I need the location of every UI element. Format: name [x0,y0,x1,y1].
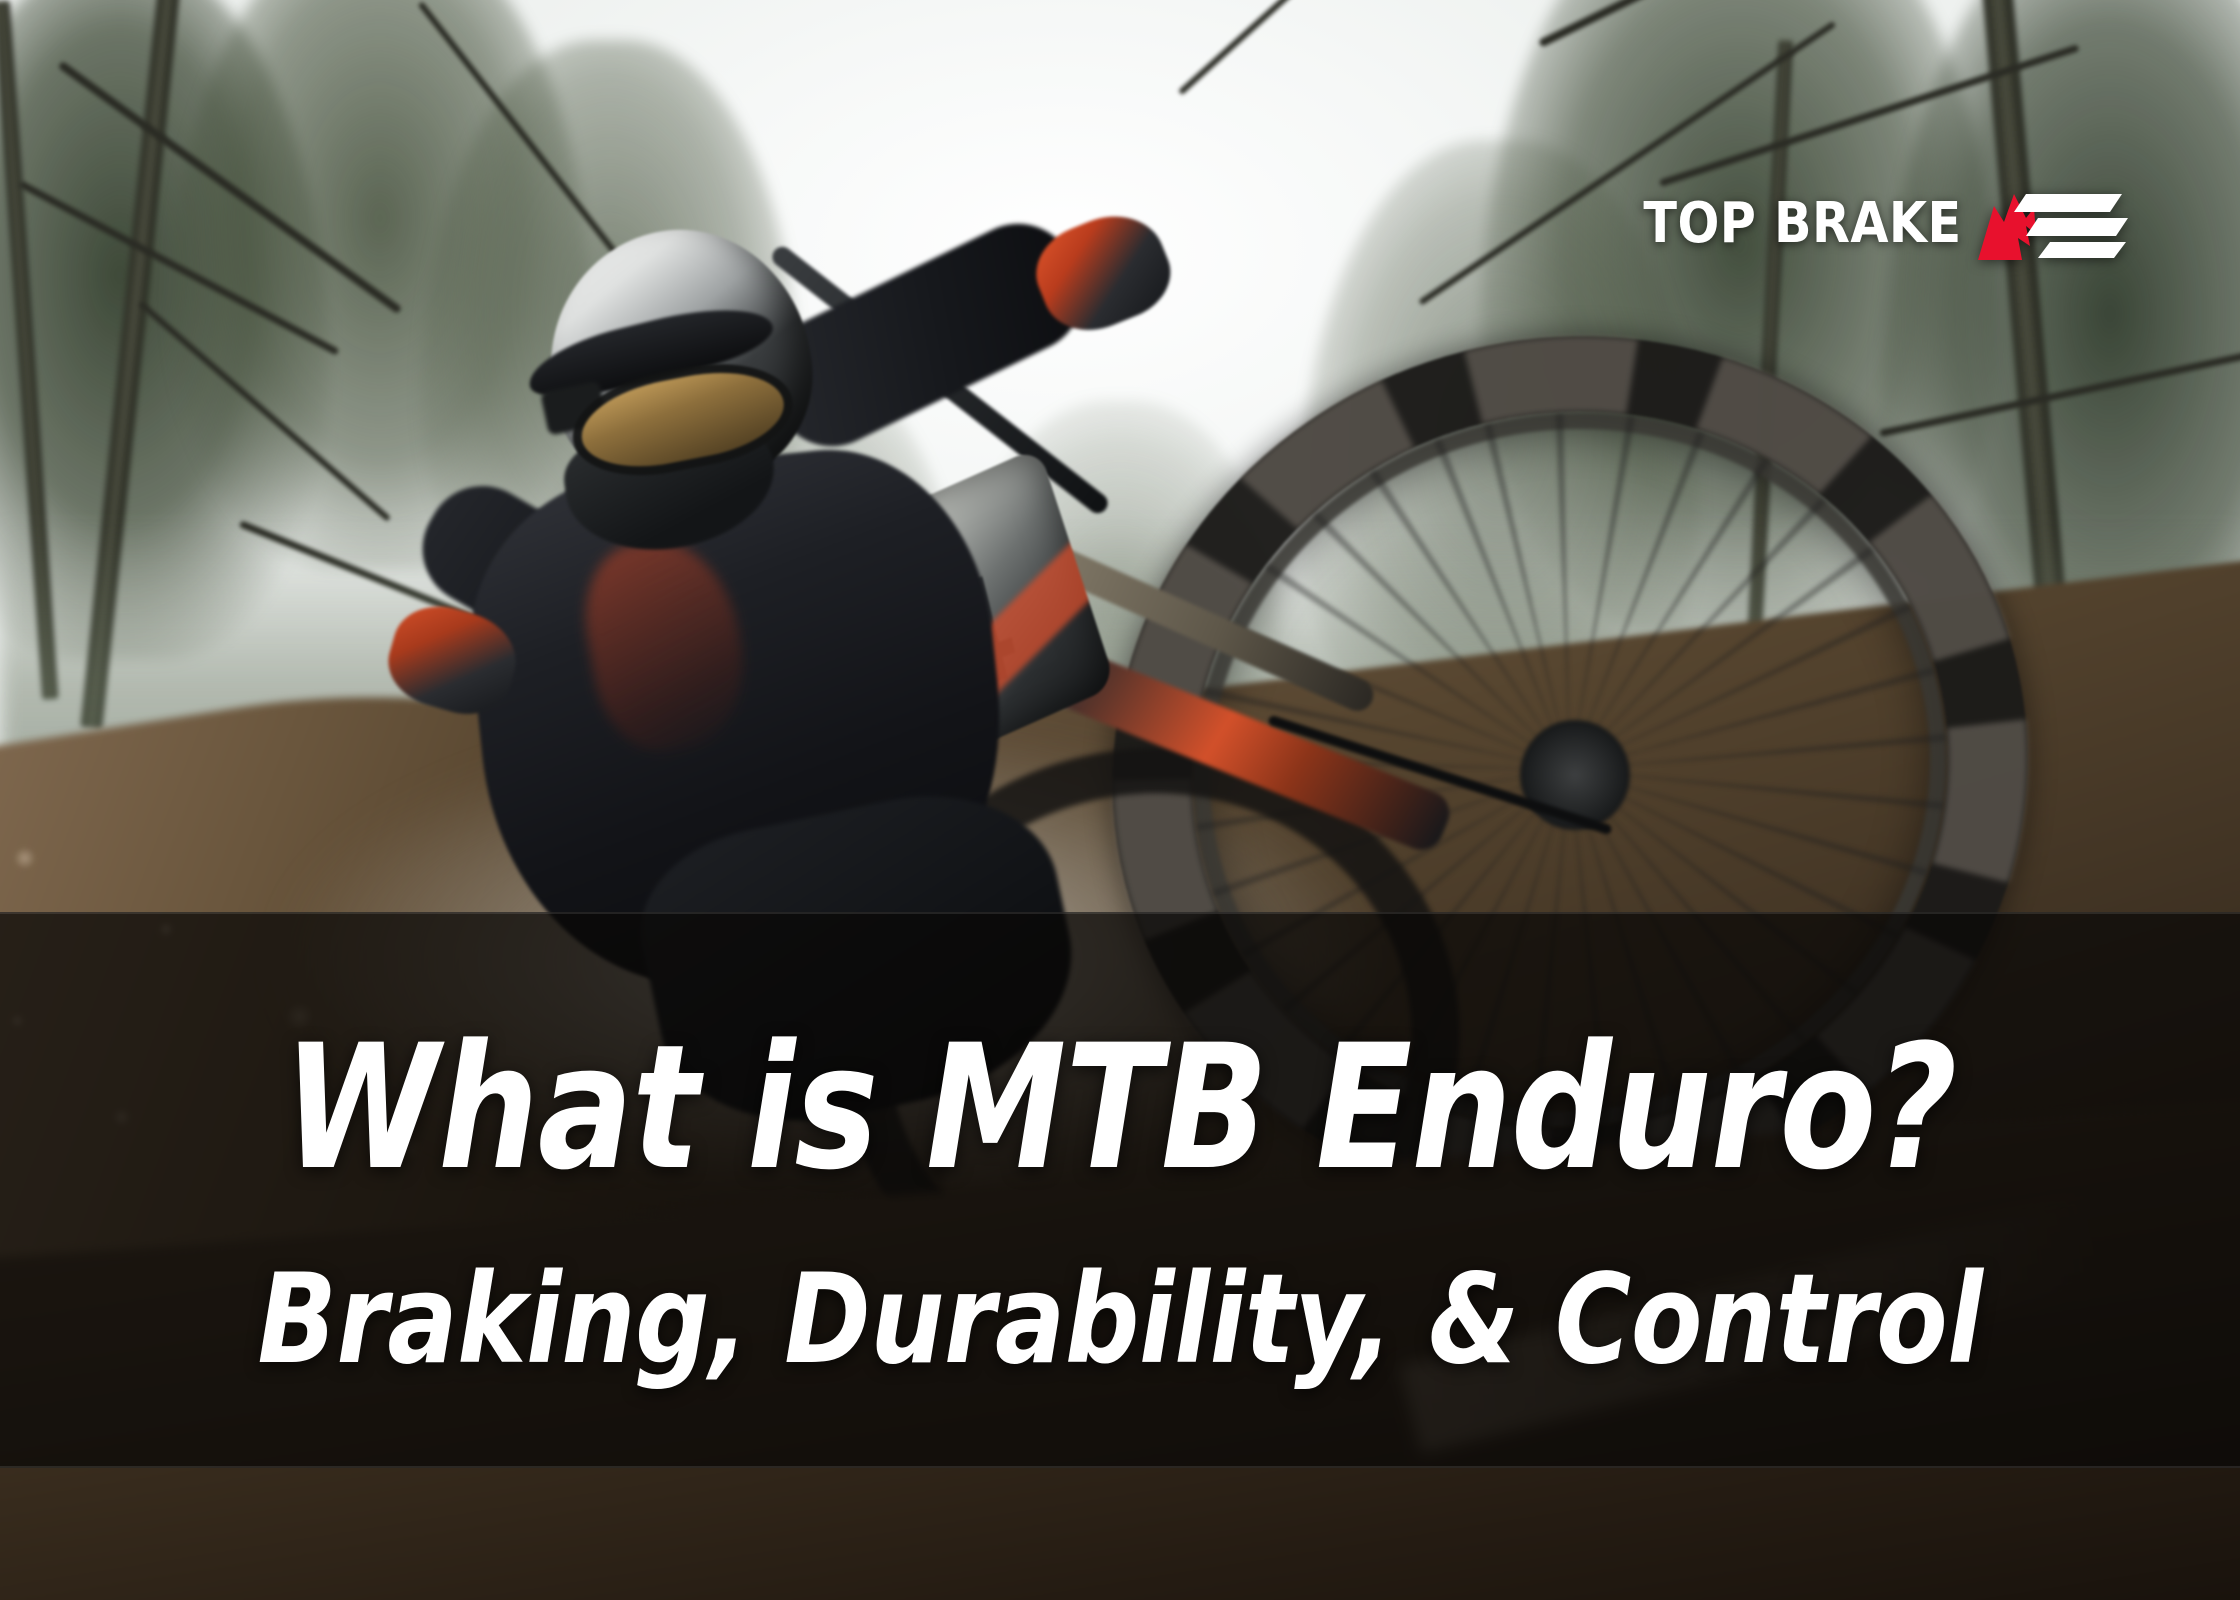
page-title: What is MTB Enduro? [202,1022,2039,1194]
hero-banner: 64 What is MTB Enduro? Braking, Durabil [0,0,2240,1600]
overlay-bottom-rule [0,1466,2240,1468]
topbrake-flame-bars-icon [1976,188,2128,260]
brand-logo-text: TOP BRAKE [1644,196,1962,252]
brand-logo[interactable]: TOP BRAKE [1600,188,2128,260]
overlay-top-rule [0,912,2240,914]
page-subtitle: Braking, Durability, & Control [179,1258,2061,1382]
